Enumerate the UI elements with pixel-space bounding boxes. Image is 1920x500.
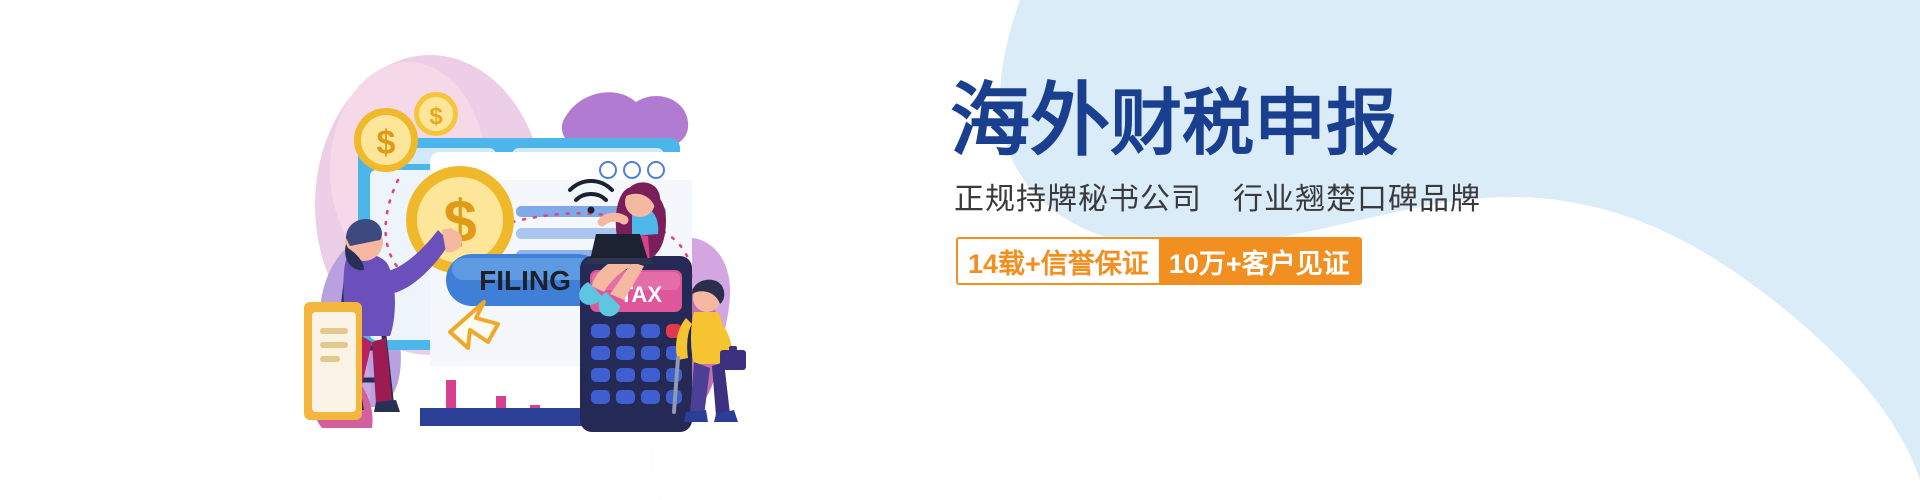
headline-part-1: 海外 [950, 76, 1110, 165]
coin-medium: $ [354, 108, 418, 172]
banner-text-block: 海外财税申报 正规持牌秘书公司 行业翘楚口碑品牌 14载+信誉保证 10万+客户… [950, 78, 1510, 285]
promo-banner: $ $ $ [0, 0, 1920, 500]
banner-subtitle: 正规持牌秘书公司 行业翘楚口碑品牌 [954, 181, 1510, 219]
page-title: 海外财税申报 [950, 78, 1510, 167]
svg-text:$: $ [377, 124, 396, 162]
trust-badge-group: 14载+信誉保证 10万+客户见证 [956, 237, 1362, 285]
svg-text:$: $ [429, 103, 443, 130]
document-stack [304, 302, 362, 420]
coin-small: $ [414, 92, 458, 136]
headline-part-2: 财税申报 [1110, 84, 1398, 164]
tax-filing-illustration: $ $ $ [280, 30, 760, 450]
status-badge-customers: 10万+客户见证 [1159, 239, 1360, 283]
filing-button-label: FILING [479, 265, 571, 296]
status-badge-years: 14载+信誉保证 [958, 239, 1159, 283]
